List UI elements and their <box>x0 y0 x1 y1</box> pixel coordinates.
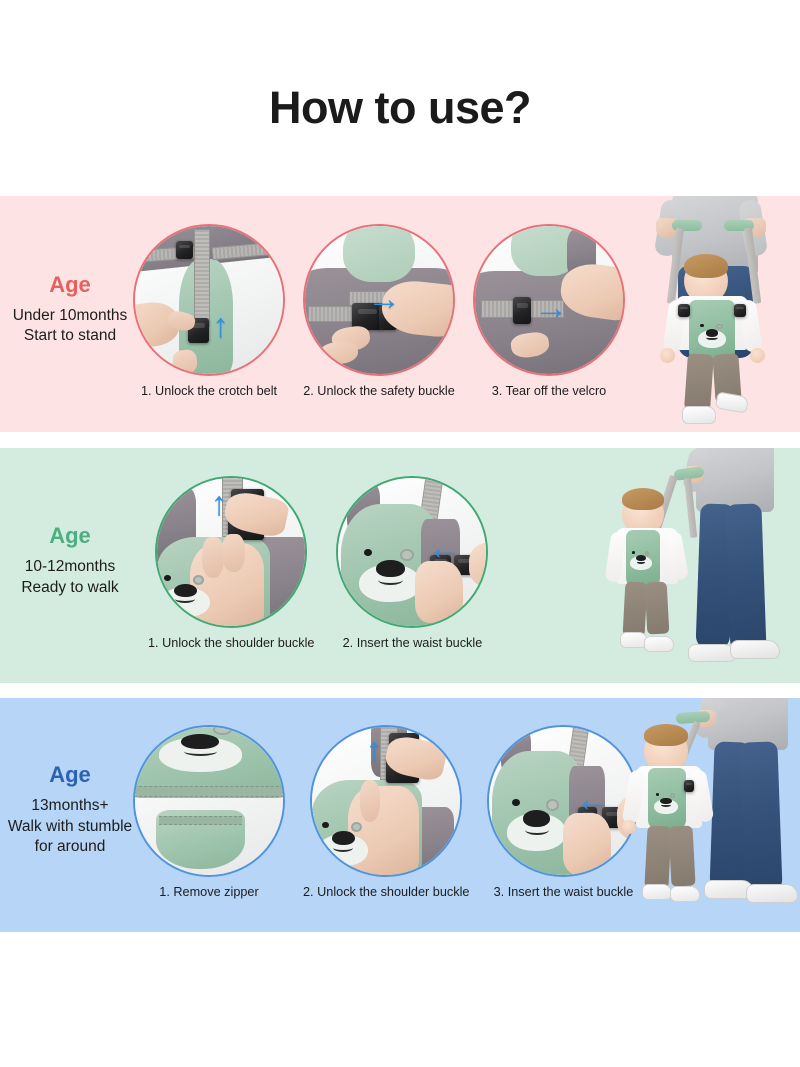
step-item[interactable]: 1. Remove zipper <box>133 725 285 905</box>
age-column-1: Age Under 10months Start to stand <box>0 196 140 432</box>
arrow-left-icon: ← <box>427 531 461 565</box>
lifestyle-photo-1 <box>632 196 800 432</box>
age-label-2: Age <box>49 525 91 547</box>
arrow-left-icon: ← <box>575 783 609 817</box>
product-photo: ← <box>489 727 637 875</box>
step-item[interactable]: → 2. Unlock the safety buckle <box>303 224 455 404</box>
product-photo: → <box>305 226 453 374</box>
step-caption: 1. Unlock the shoulder buckle <box>148 637 314 650</box>
arrow-up-icon: ↑ <box>212 309 229 343</box>
step-item[interactable]: ← 3. Insert the waist buckle <box>487 725 639 905</box>
step-item[interactable]: ↑ 2. Unlock the shoulder buckle <box>303 725 469 905</box>
product-photo: → <box>475 226 623 374</box>
age-label-1: Age <box>49 274 91 296</box>
section-10-12-months: Age 10-12months Ready to walk <box>0 448 800 683</box>
step-photo-circle: ← <box>336 476 488 628</box>
age-column-3: Age 13months+ Walk with stumble for arou… <box>0 698 140 932</box>
lifestyle-photo-3 <box>620 698 800 932</box>
age-description-2: 10-12months Ready to walk <box>21 557 118 598</box>
product-photo: ↑ <box>135 226 283 374</box>
product-photo <box>135 727 283 875</box>
step-photo-circle: → <box>473 224 625 376</box>
arrow-right-icon: → <box>367 282 401 316</box>
step-caption: 2. Unlock the shoulder buckle <box>303 886 469 899</box>
step-item[interactable]: → 3. Tear off the velcro <box>473 224 625 404</box>
step-caption: 2. Insert the waist buckle <box>343 637 483 650</box>
steps-row-1: ↑ 1. Unlock the crotch belt <box>133 196 625 432</box>
arrow-up-icon: ↑ <box>210 487 227 521</box>
step-photo-circle: → <box>303 224 455 376</box>
section-13-months-plus: Age 13months+ Walk with stumble for arou… <box>0 698 800 932</box>
lifestyle-photo-2 <box>600 448 800 683</box>
age-description-3: 13months+ Walk with stumble for around <box>8 796 132 857</box>
step-photo-circle <box>133 725 285 877</box>
step-caption: 2. Unlock the safety buckle <box>303 385 455 398</box>
infographic-page: How to use? Age Under 10months Start to … <box>0 0 800 1067</box>
section-under-10-months: Age Under 10months Start to stand <box>0 196 800 432</box>
step-item[interactable]: ↑ 1. Unlock the crotch belt <box>133 224 285 404</box>
step-caption: 3. Insert the waist buckle <box>494 886 634 899</box>
arrow-up-icon: ↑ <box>365 733 382 767</box>
age-description-1: Under 10months Start to stand <box>13 306 128 347</box>
steps-row-3: 1. Remove zipper <box>133 698 639 932</box>
step-photo-circle: ↑ <box>155 476 307 628</box>
step-photo-circle: ↑ <box>310 725 462 877</box>
page-title: How to use? <box>269 67 531 130</box>
step-item[interactable]: ← 2. Insert the waist buckle <box>336 476 488 656</box>
product-photo: ↑ <box>157 478 305 626</box>
steps-row-2: ↑ 1. Unlock the shoulder buckle <box>148 448 488 683</box>
step-caption: 1. Remove zipper <box>159 886 258 899</box>
product-photo: ← <box>338 478 486 626</box>
title-area: How to use? <box>0 0 800 196</box>
step-photo-circle: ↑ <box>133 224 285 376</box>
step-photo-circle: ← <box>487 725 639 877</box>
step-caption: 3. Tear off the velcro <box>492 385 607 398</box>
age-label-3: Age <box>49 764 91 786</box>
step-item[interactable]: ↑ 1. Unlock the shoulder buckle <box>148 476 314 656</box>
product-photo: ↑ <box>312 727 460 875</box>
step-caption: 1. Unlock the crotch belt <box>141 385 277 398</box>
arrow-right-icon: → <box>534 291 568 325</box>
age-column-2: Age 10-12months Ready to walk <box>0 448 140 683</box>
